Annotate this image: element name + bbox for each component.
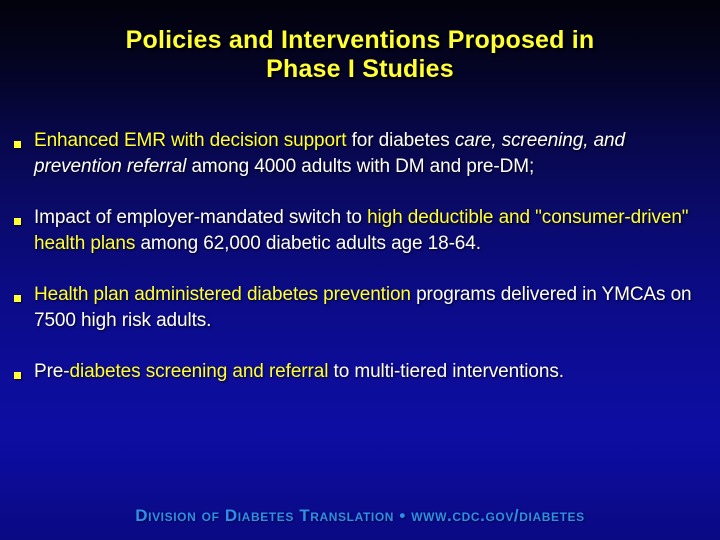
list-item: Enhanced EMR with decision support for d… [0, 128, 720, 180]
bullet-1-run-2: for diabetes [352, 130, 455, 151]
list-item: Health plan administered diabetes preven… [0, 282, 720, 334]
bullet-1-run-1: Enhanced EMR with decision support [34, 130, 352, 151]
bullet-2-run-1: Impact of employer-mandated switch to [34, 207, 367, 228]
bullet-3-run-1: Health plan administered diabetes preven… [34, 284, 416, 305]
bullet-4-run-2: diabetes screening and referral [70, 361, 334, 382]
bullet-1-run-4: among 4000 adults with DM and pre-DM; [191, 156, 534, 177]
bullet-list: Enhanced EMR with decision support for d… [0, 128, 720, 410]
bullet-2-run-3: among 62,000 diabetic adults age 18-64. [140, 233, 480, 254]
square-bullet-icon [14, 218, 21, 225]
list-item: Pre-diabetes screening and referral to m… [0, 359, 720, 385]
bullet-text-2: Impact of employer-mandated switch to hi… [34, 205, 706, 257]
slide-title-line-2: Phase I Studies [40, 55, 680, 84]
square-bullet-icon [14, 141, 21, 148]
square-bullet-icon [14, 372, 21, 379]
bullet-text-3: Health plan administered diabetes preven… [34, 282, 706, 334]
slide-title: Policies and Interventions Proposed in P… [40, 26, 680, 84]
slide-footer: Division of Diabetes Translation • www.c… [0, 506, 720, 526]
bullet-4-run-3: to multi-tiered interventions. [334, 361, 564, 382]
list-item: Impact of employer-mandated switch to hi… [0, 205, 720, 257]
bullet-text-1: Enhanced EMR with decision support for d… [34, 128, 706, 180]
presentation-slide: Policies and Interventions Proposed in P… [0, 0, 720, 540]
bullet-text-4: Pre-diabetes screening and referral to m… [34, 359, 706, 385]
slide-title-line-1: Policies and Interventions Proposed in [40, 26, 680, 55]
square-bullet-icon [14, 295, 21, 302]
bullet-4-run-1: Pre- [34, 361, 70, 382]
